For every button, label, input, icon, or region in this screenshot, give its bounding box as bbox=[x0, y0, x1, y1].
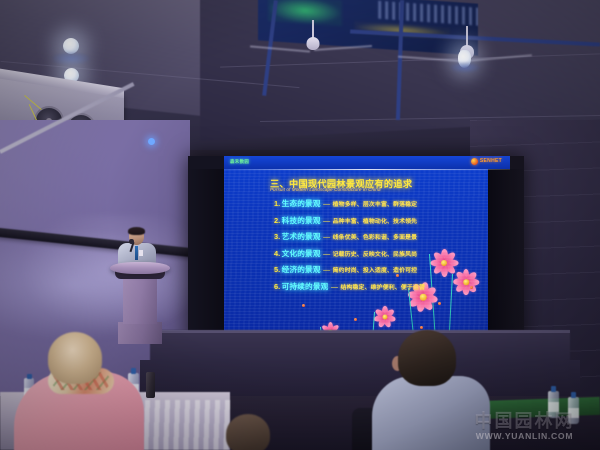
podium bbox=[110, 262, 170, 344]
bullet-number: 3. bbox=[274, 232, 280, 241]
beverage-can bbox=[146, 372, 155, 398]
podium-top bbox=[110, 262, 170, 274]
speaker-hair bbox=[128, 227, 145, 235]
flame-logo-icon bbox=[471, 158, 478, 165]
bullet-row: 5. 经济的景观 — 简约时尚、投入适度、造价可控 bbox=[274, 264, 484, 275]
bullet-detail: 植物多样、层次丰富、群落稳定 bbox=[333, 199, 418, 208]
bullet-number: 1. bbox=[274, 199, 280, 208]
bullet-dash: — bbox=[323, 218, 330, 225]
bullet-row: 1. 生态的景观 — 植物多样、层次丰富、群落稳定 bbox=[274, 198, 484, 209]
header-right-mask bbox=[510, 156, 524, 169]
slide-subtitle: Pursuit of Modern Landscape Constructure… bbox=[270, 187, 381, 192]
header-divider bbox=[224, 169, 510, 170]
screen-dark-left-panel bbox=[188, 156, 224, 348]
bullet-detail: 简约时尚、投入适度、造价可控 bbox=[333, 265, 418, 274]
slide-bullet-list: 1. 生态的景观 — 植物多样、层次丰富、群落稳定 2. 科技的景观 — 品种丰… bbox=[274, 198, 484, 298]
header-logo-text: SENHET bbox=[480, 158, 502, 164]
bullet-row: 4. 文化的景观 — 记载历史、反映文化、民族风尚 bbox=[274, 248, 484, 259]
bullet-detail: 结构稳定、维护便利、便于运营 bbox=[340, 282, 425, 291]
rod-indicator-light bbox=[148, 138, 155, 145]
watermark: 中国园林网 WWW.YUANLIN.COM bbox=[452, 412, 597, 446]
lamp-shade bbox=[52, 52, 90, 65]
header-left-mask bbox=[188, 156, 224, 169]
bullet-dash: — bbox=[323, 251, 330, 258]
speaker-name-badge bbox=[139, 250, 143, 256]
watermark-chinese: 中国园林网 bbox=[452, 412, 597, 431]
bullet-row: 2. 科技的景观 — 品种丰富、植物动化、技术领先 bbox=[274, 215, 484, 226]
bullet-detail: 品种丰富、植物动化、技术领先 bbox=[333, 216, 418, 225]
audience-person-head bbox=[226, 414, 270, 450]
bullet-heading: 艺术的景观 bbox=[282, 231, 321, 242]
lamp-shade bbox=[450, 62, 480, 73]
ceiling-fan bbox=[278, 20, 348, 68]
bullet-number: 4. bbox=[274, 249, 280, 258]
screen-dark-right-panel bbox=[488, 156, 524, 348]
bullet-dash: — bbox=[323, 234, 330, 241]
header-logo: SENHET bbox=[471, 158, 502, 165]
watermark-url: WWW.YUANLIN.COM bbox=[452, 431, 597, 441]
bullet-detail: 记载历史、反映文化、民族风尚 bbox=[333, 249, 418, 258]
cosmos-flower bbox=[374, 306, 396, 328]
bullet-number: 2. bbox=[274, 216, 280, 225]
bullet-row: 3. 艺术的景观 — 线条优美、色彩和谐、多面是景 bbox=[274, 231, 484, 242]
bullet-dash: — bbox=[323, 201, 330, 208]
bullet-number: 5. bbox=[274, 265, 280, 274]
bullet-detail: 线条优美、色彩和谐、多面是景 bbox=[333, 232, 418, 241]
audience-person-head bbox=[48, 332, 102, 384]
led-screen: 三、中国现代园林景观应有的追求 Pursuit of Modern Landsc… bbox=[188, 156, 524, 348]
flower-bud bbox=[302, 304, 305, 307]
bullet-heading: 科技的景观 bbox=[282, 215, 321, 226]
presentation-slide: 三、中国现代园林景观应有的追求 Pursuit of Modern Landsc… bbox=[224, 156, 488, 348]
podium-base bbox=[118, 322, 162, 344]
bullet-number: 6. bbox=[274, 282, 280, 291]
bullet-dash: — bbox=[323, 267, 330, 274]
photo-scene: 三、中国现代园林景观应有的追求 Pursuit of Modern Landsc… bbox=[0, 0, 600, 450]
bullet-heading: 生态的景观 bbox=[282, 198, 321, 209]
flower-bud bbox=[420, 326, 423, 329]
audience-person-head bbox=[398, 330, 456, 386]
flower-bud bbox=[354, 318, 357, 321]
microphone-icon bbox=[129, 239, 134, 244]
bullet-dash: — bbox=[331, 284, 338, 291]
stage-edge bbox=[150, 330, 570, 333]
header-company-badge: 森禾数园 bbox=[230, 159, 249, 165]
speaker-tie bbox=[135, 246, 138, 260]
flower-bud bbox=[438, 302, 441, 305]
bullet-row: 6. 可持续的景观 — 结构稳定、维护便利、便于运营 bbox=[274, 281, 484, 292]
bullet-heading: 可持续的景观 bbox=[282, 281, 329, 292]
bullet-heading: 文化的景观 bbox=[282, 248, 321, 259]
podium-column bbox=[123, 278, 157, 324]
bullet-heading: 经济的景观 bbox=[282, 264, 321, 275]
